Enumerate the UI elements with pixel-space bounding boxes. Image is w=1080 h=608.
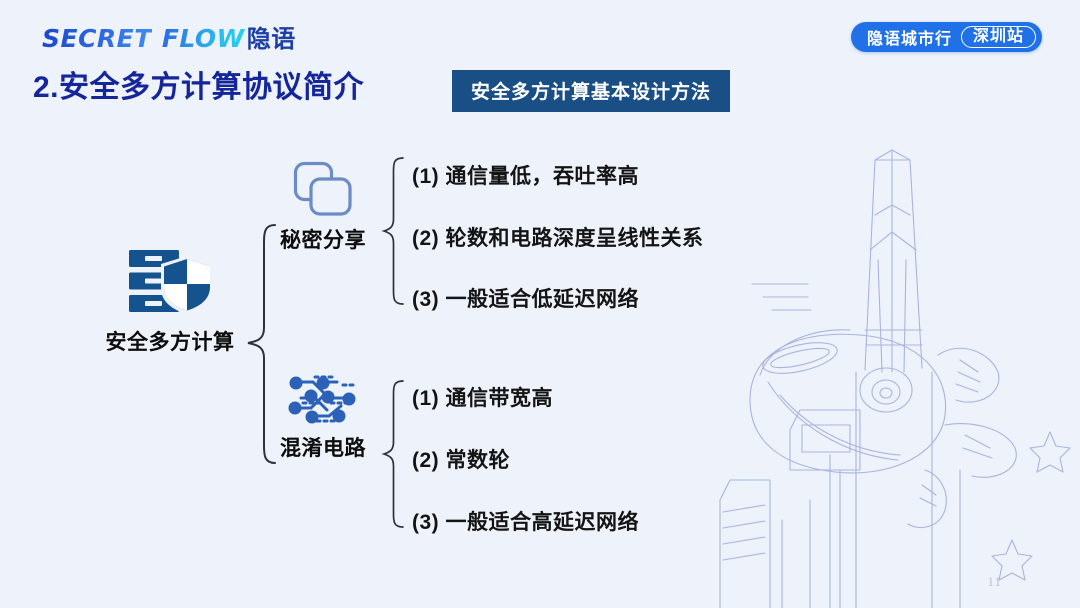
section-subtitle-chip: 安全多方计算基本设计方法: [452, 70, 730, 112]
event-badge-city-label: 深圳站: [961, 26, 1036, 49]
overlapping-squares-icon: [253, 160, 393, 218]
brand-logo: SECRETFLOW隐语: [42, 19, 296, 54]
logo-word-flow: FLOW: [162, 24, 245, 53]
server-shield-icon: [95, 248, 245, 314]
page-number: 11: [987, 574, 1002, 590]
bullet-gc-3: (3) 一般适合高延迟网络: [412, 506, 639, 536]
event-badge: 隐语城市行 深圳站: [851, 22, 1042, 52]
garbled-circuit-brace: [381, 378, 407, 530]
diagram-root-label: 安全多方计算: [95, 326, 245, 356]
diagram-branch-label-garbled-circuit: 混淆电路: [253, 432, 393, 462]
bullet-gc-2: (2) 常数轮: [412, 444, 510, 474]
page-title: 2.安全多方计算协议简介: [33, 62, 364, 106]
diagram-branch-secret-sharing: 秘密分享: [253, 160, 393, 254]
logo-word-chinese: 隐语: [247, 26, 296, 53]
diagram-branch-garbled-circuit: 混淆电路: [253, 372, 393, 462]
bullet-ss-1: (1) 通信量低，吞吐率高: [412, 160, 639, 190]
circuit-nodes-icon: [253, 372, 393, 426]
logo-word-secret: SECRET: [42, 24, 152, 53]
bullet-ss-3: (3) 一般适合低延迟网络: [412, 283, 639, 313]
bullet-gc-1: (1) 通信带宽高: [412, 382, 553, 412]
secret-sharing-brace: [381, 155, 407, 307]
diagram-branch-label-secret-sharing: 秘密分享: [253, 224, 393, 254]
bullet-ss-2: (2) 轮数和电路深度呈线性关系: [412, 222, 704, 252]
slide: 11 SECRETFLOW隐语 隐语城市行 深圳站 2.安全多方计算协议简介 安…: [0, 0, 1080, 608]
event-badge-main-label: 隐语城市行: [867, 25, 952, 49]
diagram-root-node: 安全多方计算: [95, 248, 245, 356]
